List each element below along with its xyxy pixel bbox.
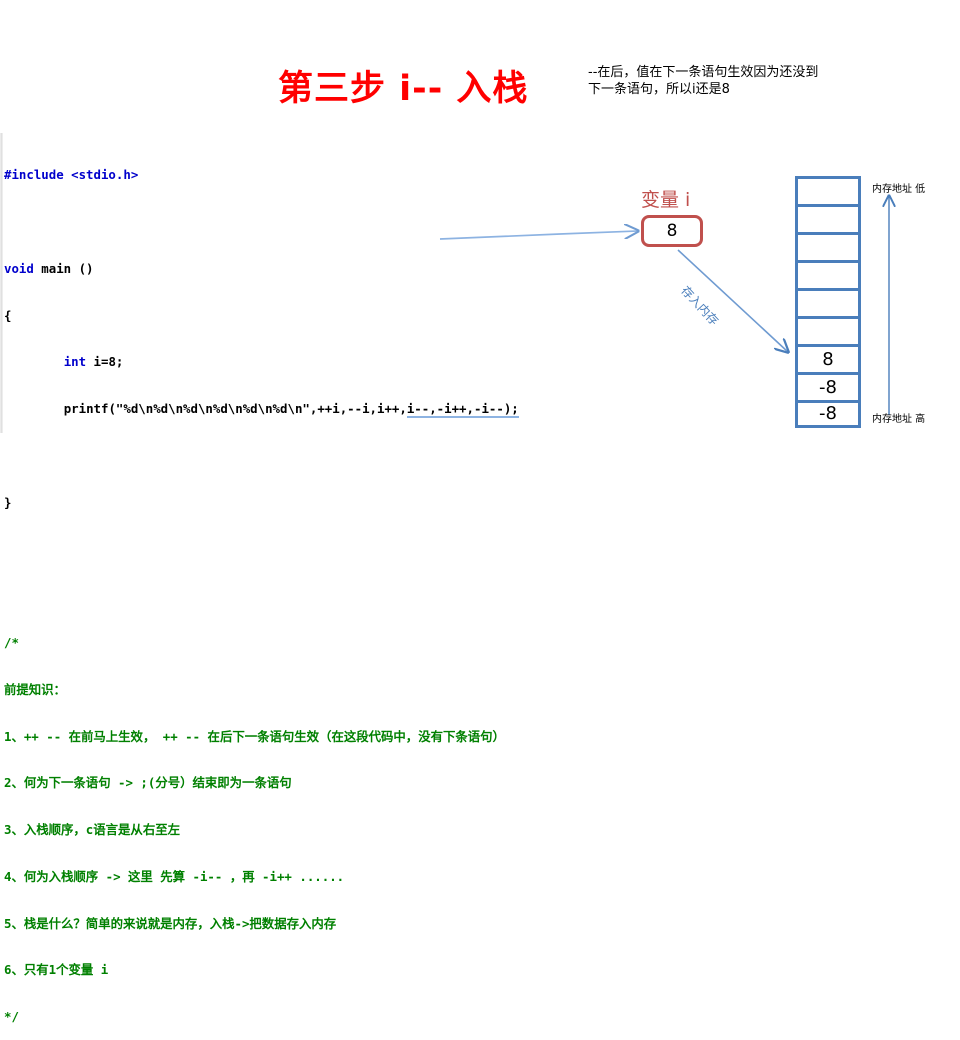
- code-comment-line: 1、++ -- 在前马上生效， ++ -- 在后下一条语句生效（在这段代码中，没…: [4, 729, 519, 745]
- code-comment-line: 3、入栈顺序，c语言是从右至左: [4, 822, 519, 838]
- memory-cell: [795, 232, 861, 260]
- code-text-printf-head: printf("%d\n%d\n%d\n%d\n%d\n%d\n",++i,--…: [64, 401, 407, 416]
- memory-cell: [795, 204, 861, 232]
- code-keyword-void: void: [4, 261, 34, 276]
- code-blank-line-4: [4, 588, 519, 604]
- memory-address-high-label: 内存地址 高: [872, 410, 925, 425]
- code-comment-line: 6、只有1个变量 i: [4, 962, 519, 978]
- code-text-int-rest: i=8;: [86, 354, 123, 369]
- memory-cell: [795, 176, 861, 204]
- variable-value-box: 8: [641, 215, 703, 247]
- editor-gutter-strip: [0, 133, 3, 433]
- code-blank-line-3: [4, 541, 519, 557]
- code-line-int-decl: int i=8;: [4, 354, 519, 370]
- code-comment-open: /*: [4, 635, 519, 651]
- memory-cell: -8: [795, 400, 861, 428]
- code-line-close-brace: }: [4, 495, 519, 511]
- page-title: 第三步 i-- 入栈: [278, 72, 528, 107]
- memory-address-low-label: 内存地址 低: [872, 180, 925, 195]
- memory-cell: [795, 316, 861, 344]
- code-text-main: main (): [34, 261, 94, 276]
- store-to-memory-label: 存入内存: [678, 282, 723, 329]
- code-comment-line: 前提知识：: [4, 682, 519, 698]
- code-comment-line: 4、何为入栈顺序 -> 这里 先算 -i-- ，再 -i++ ......: [4, 869, 519, 885]
- memory-cell: 8: [795, 344, 861, 372]
- variable-label: 变量 i: [641, 185, 690, 212]
- code-blank-line: [4, 214, 519, 230]
- code-keyword-int: int: [64, 354, 86, 369]
- code-comment-line: 5、栈是什么？简单的来说就是内存，入栈->把数据存入内存: [4, 916, 519, 932]
- code-comment-close: */: [4, 1009, 519, 1025]
- annotation-text: --在后，值在下一条语句生效因为还没到下一条语句，所以i还是8: [588, 64, 826, 98]
- memory-cell: [795, 288, 861, 316]
- variable-value: 8: [644, 218, 700, 244]
- code-line-printf: printf("%d\n%d\n%d\n%d\n%d\n%d\n",++i,--…: [4, 401, 519, 417]
- code-line-void-main: void main (): [4, 261, 519, 277]
- code-blank-line-2: [4, 448, 519, 464]
- code-comment-line: 2、何为下一条语句 -> ;(分号）结束即为一条语句: [4, 775, 519, 791]
- memory-stack: 8 -8 -8: [795, 176, 861, 428]
- memory-cell: -8: [795, 372, 861, 400]
- code-line-open-brace: {: [4, 308, 519, 324]
- code-block: #include <stdio.h> void main () { int i=…: [4, 136, 519, 1040]
- code-text-printf-tail: i--,-i++,-i--);: [407, 401, 519, 418]
- code-line-include: #include <stdio.h>: [4, 167, 519, 183]
- memory-cell: [795, 260, 861, 288]
